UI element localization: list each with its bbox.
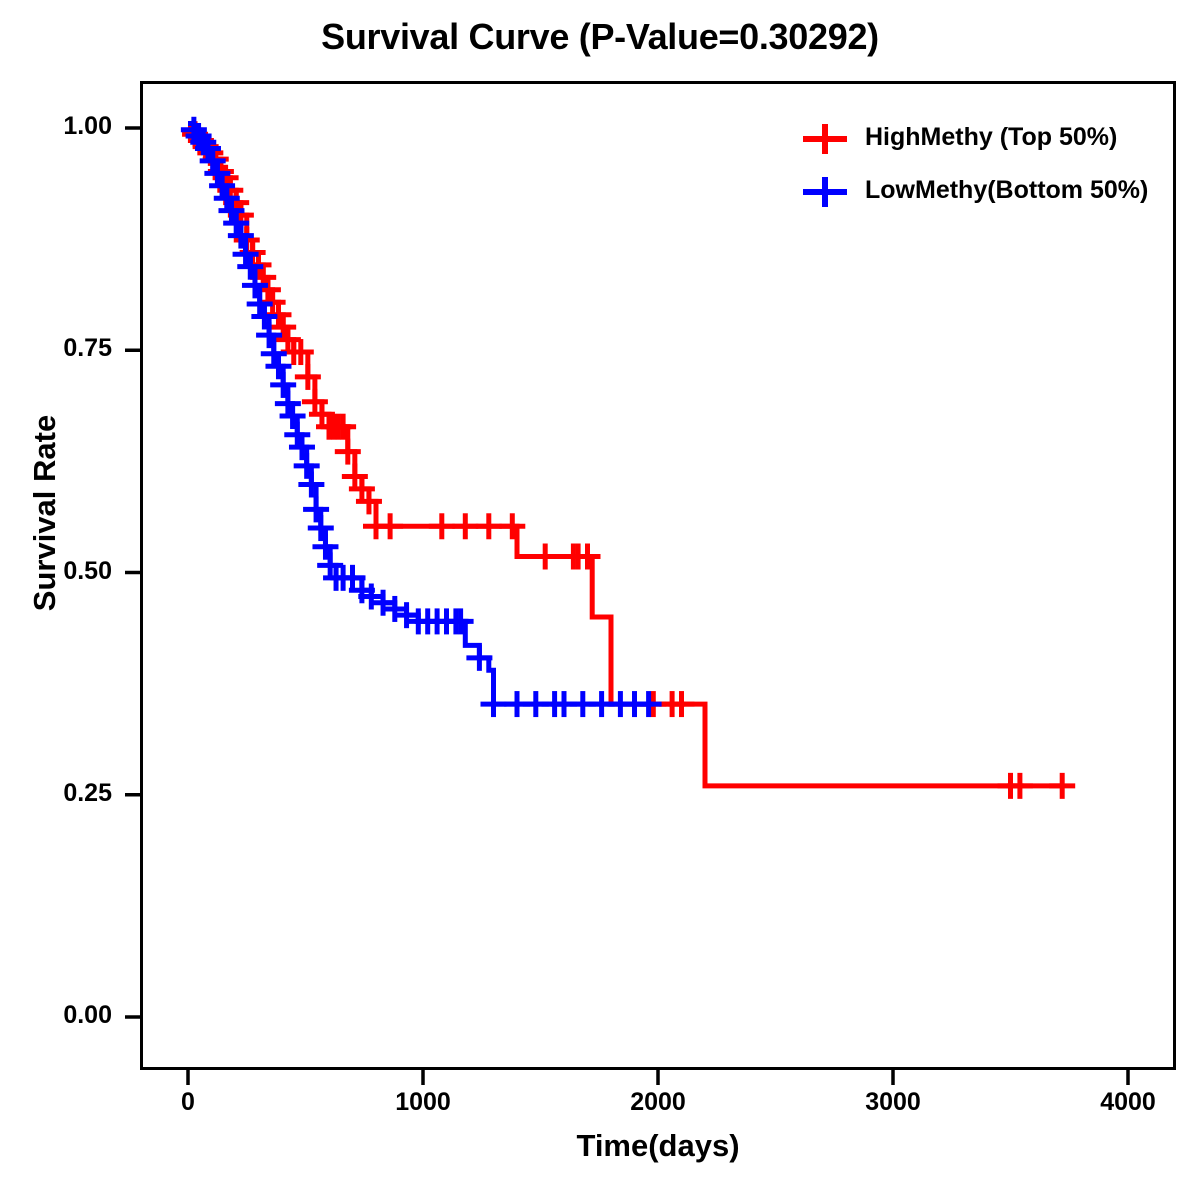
x-tick-label: 1000: [363, 1088, 483, 1117]
x-tick-label: 3000: [833, 1088, 953, 1117]
survival-step-line: [188, 128, 1062, 786]
y-tick-label: 0.75: [20, 334, 112, 363]
y-tick-label: 0.00: [20, 1001, 112, 1030]
y-tick-label: 0.25: [20, 779, 112, 808]
legend-item-label: LowMethy(Bottom 50%): [865, 176, 1148, 205]
censor-mark-group: [182, 121, 1075, 799]
plot-frame: [142, 83, 1175, 1069]
series-high-methy: [182, 121, 1075, 799]
censor-mark-group: [181, 117, 662, 717]
y-axis-ticks: [125, 128, 141, 1017]
series-layer: [181, 117, 1075, 799]
y-tick-label: 0.50: [20, 557, 112, 586]
survival-curve-figure: Survival Curve (P-Value=0.30292) Surviva…: [0, 0, 1200, 1200]
x-tick-label: 2000: [598, 1088, 718, 1117]
legend-markers: [803, 124, 847, 207]
legend-item-label: HighMethy (Top 50%): [865, 123, 1117, 152]
x-axis-ticks: [188, 1069, 1128, 1085]
x-tick-label: 4000: [1068, 1088, 1188, 1117]
y-tick-label: 1.00: [20, 112, 112, 141]
series-low-methy: [181, 117, 662, 717]
x-tick-label: 0: [128, 1088, 248, 1117]
